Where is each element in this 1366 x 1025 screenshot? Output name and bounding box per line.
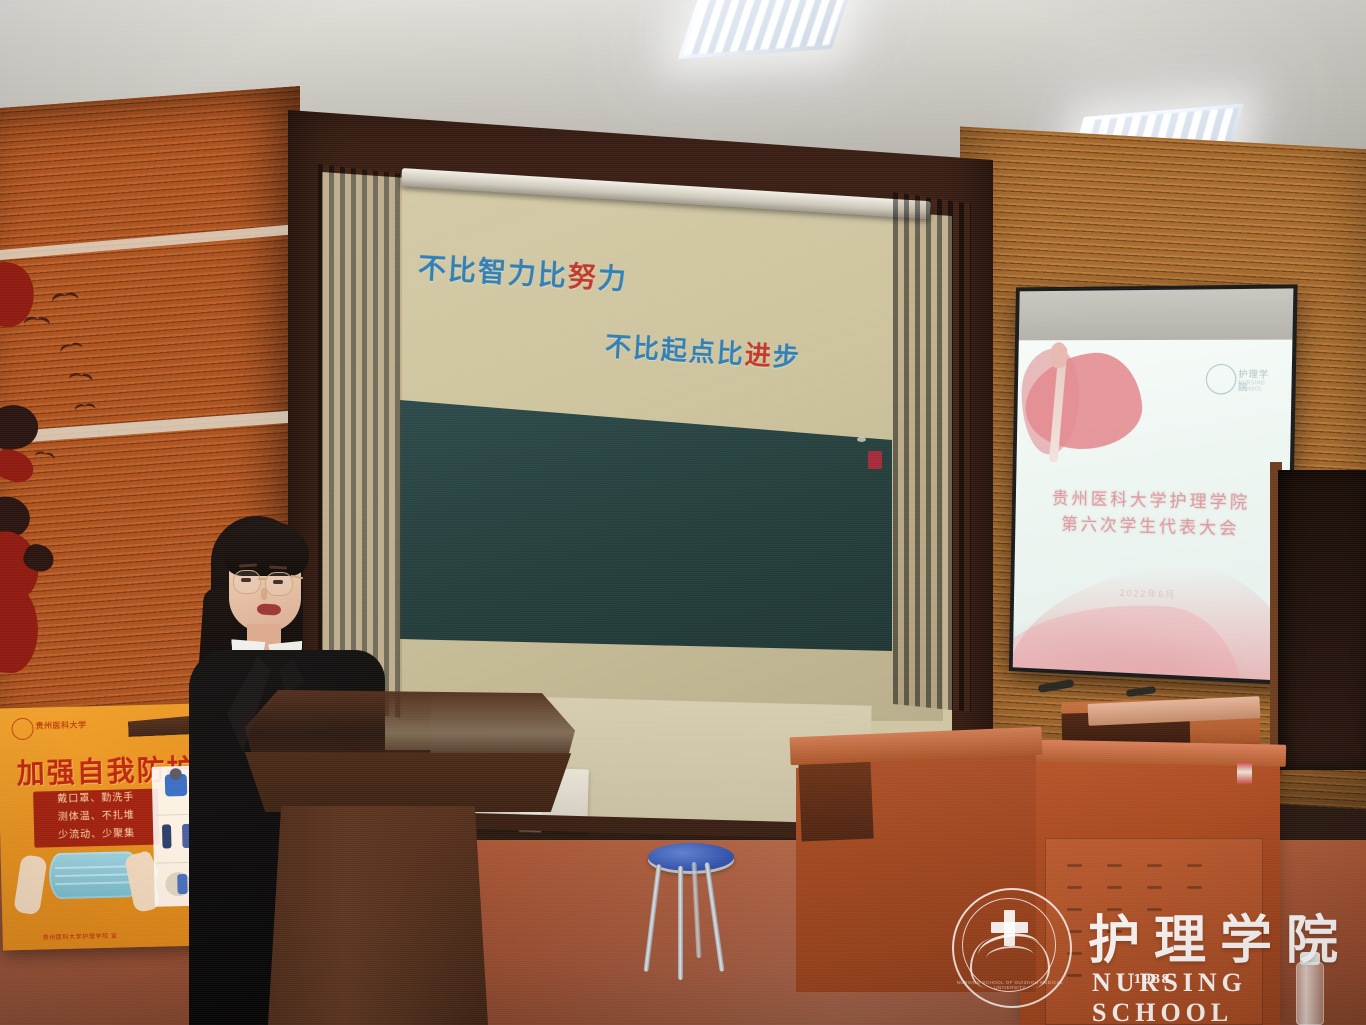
mouth	[257, 603, 282, 615]
stool-leg	[678, 866, 683, 980]
eyeglasses-bridge	[258, 578, 267, 580]
poster-text-box: 戴口罩、勤洗手 测体温、不扎堆 少流动、少聚集	[33, 789, 159, 848]
stage-curtain-right	[893, 192, 971, 712]
dark-doorway	[1278, 470, 1366, 770]
side-desk-recess	[798, 757, 873, 842]
auditorium-photo: 不比智力比努力 不比起点比进步 护理学院 NURSING SCHOOL 贵州医科…	[0, 0, 1366, 1025]
eyeglasses-lens-right	[265, 572, 293, 596]
slide-logo-seal	[1206, 364, 1237, 394]
hair-front	[223, 522, 309, 576]
slide-school-logo: 护理学院 NURSING SCHOOL	[1206, 364, 1278, 395]
slide-torch	[1050, 342, 1068, 368]
console-label-sticker	[1237, 762, 1252, 784]
slide-logo-subtext: NURSING SCHOOL	[1238, 380, 1277, 392]
poster-line-3: 少流动、少聚集	[34, 825, 159, 846]
projection-screen: 护理学院 NURSING SCHOOL 贵州医科大学护理学院 第六次学生代表大会…	[1009, 284, 1298, 685]
screen-surface: 护理学院 NURSING SCHOOL 贵州医科大学护理学院 第六次学生代表大会…	[1013, 340, 1293, 681]
eyeglasses-lens-left	[233, 570, 261, 594]
podium-column	[268, 806, 488, 1025]
nose	[261, 588, 267, 600]
av-console-door	[1045, 838, 1263, 1025]
poster-logo-seal	[11, 718, 34, 741]
water-bottle	[1296, 962, 1324, 1025]
podium-middle	[238, 752, 578, 812]
poster-hand-left	[13, 854, 47, 915]
blackboard-red-sticker	[868, 451, 882, 469]
poster-logo-text: 贵州医科大学	[35, 719, 86, 731]
screen-top-bar	[1019, 288, 1294, 340]
poster-footer-text: 贵州医科大学护理学院 宣	[43, 931, 118, 942]
chalk-mark	[857, 437, 866, 442]
